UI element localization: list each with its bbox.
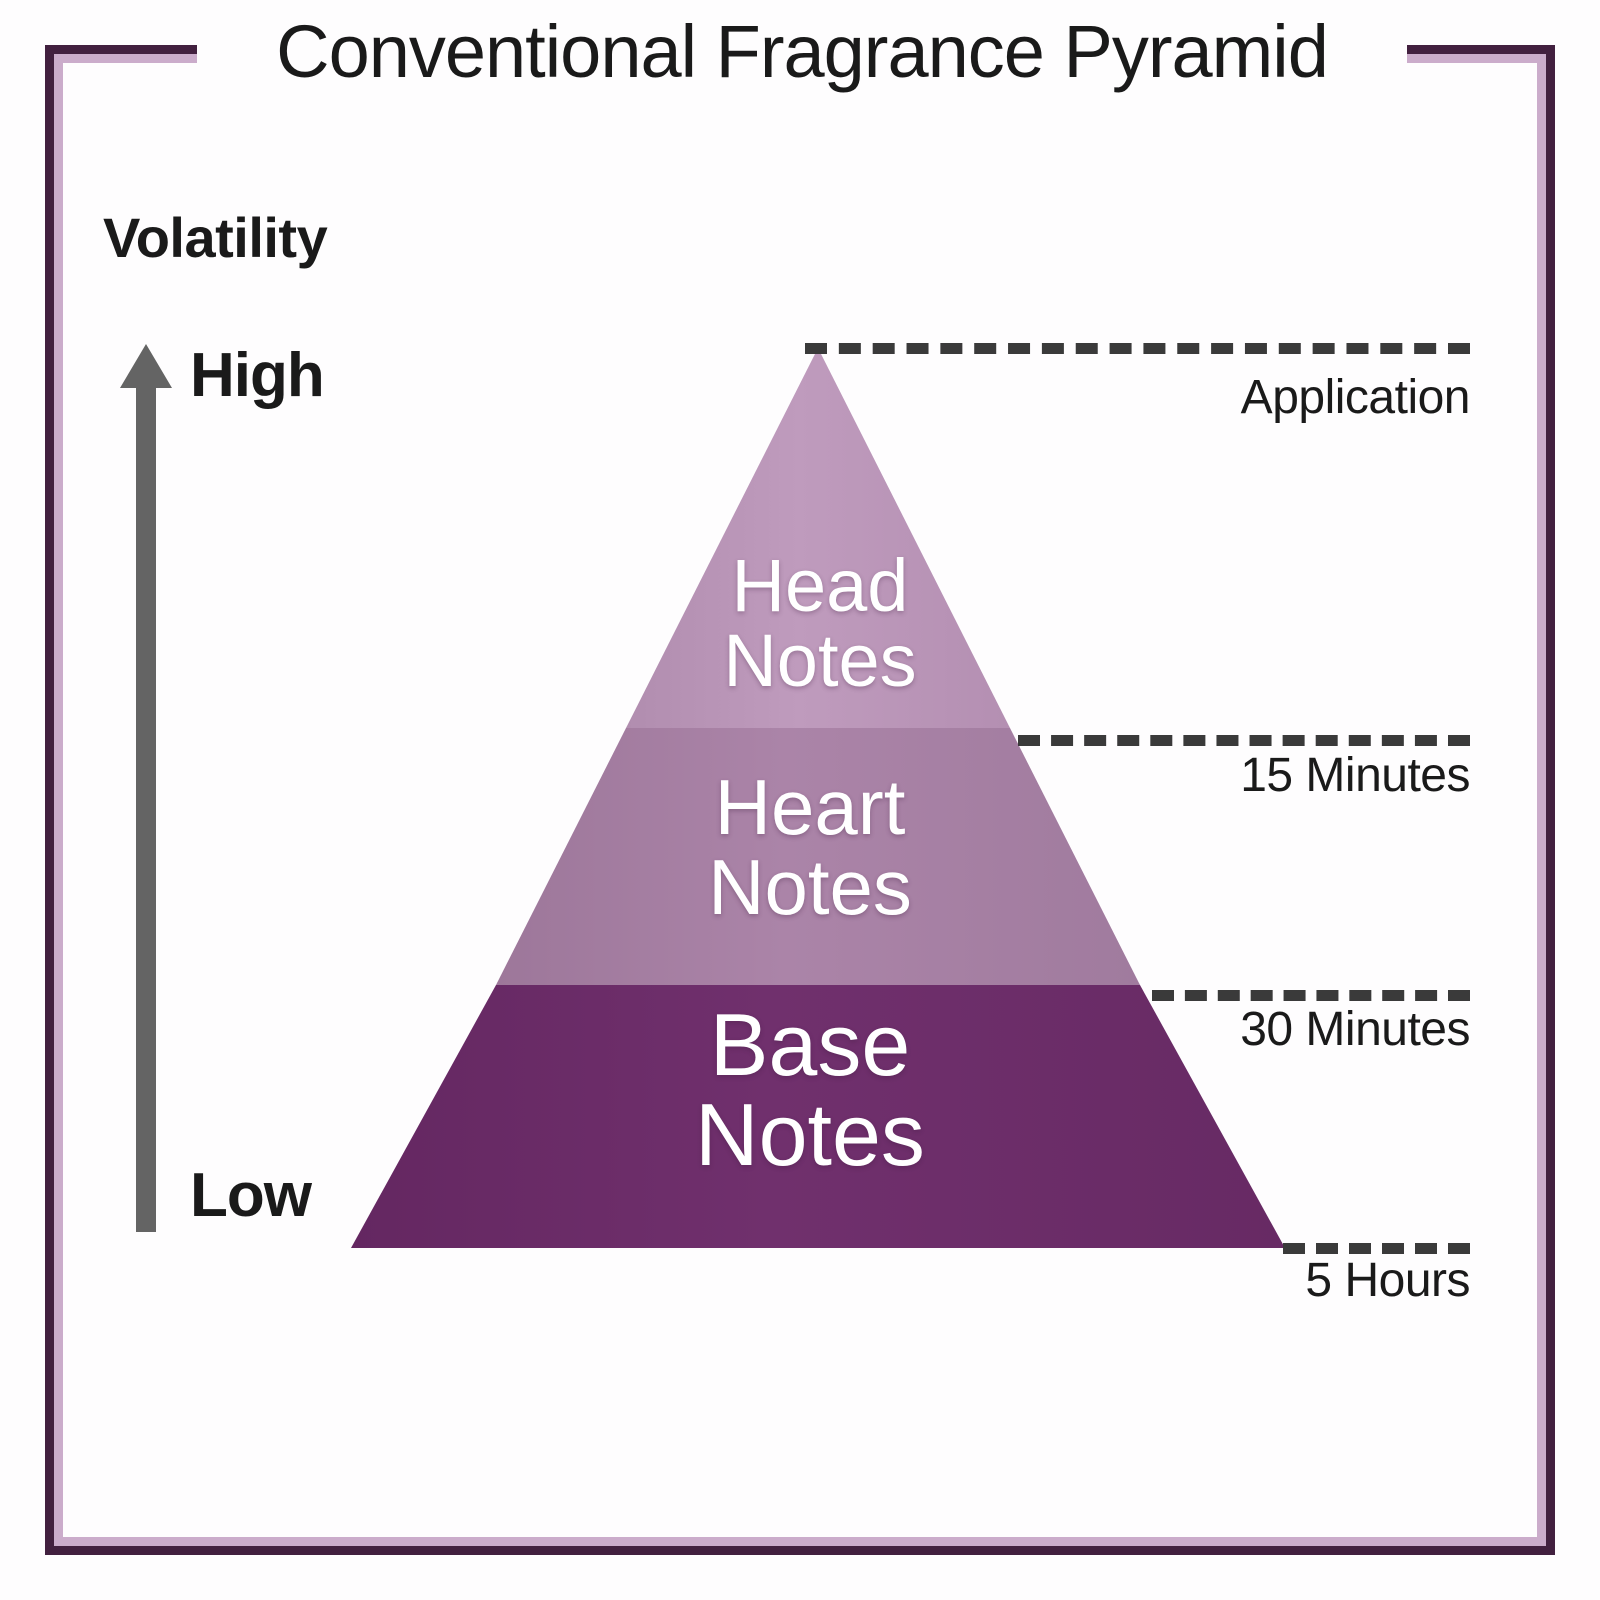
marker-label-five-hours: 5 Hours: [870, 1253, 1470, 1308]
marker-line-fifteen-min: [1018, 735, 1470, 746]
frame-left-inner: [54, 54, 63, 1546]
page-title: Conventional Fragrance Pyramid: [197, 10, 1407, 94]
frame-bottom-inner: [54, 1537, 1537, 1546]
fragrance-pyramid-diagram: Conventional Fragrance Pyramid Volatilit…: [0, 0, 1600, 1600]
frame-top-left-inner: [55, 54, 197, 63]
marker-line-thirty-min: [1152, 990, 1470, 1001]
axis-caption-volatility: Volatility: [103, 205, 327, 270]
marker-label-application: Application: [870, 370, 1470, 425]
frame-top-right-inner: [1407, 54, 1545, 63]
frame-right-segment: [1546, 45, 1555, 1555]
axis-label-high: High: [190, 340, 324, 411]
marker-label-thirty-min: 30 Minutes: [870, 1002, 1470, 1057]
volatility-up-arrow-icon: [118, 340, 174, 1236]
axis-label-low: Low: [190, 1160, 311, 1231]
frame-left-segment: [45, 45, 54, 1555]
marker-label-fifteen-min: 15 Minutes: [870, 748, 1470, 803]
frame-right-inner: [1537, 54, 1546, 1546]
marker-line-application: [805, 343, 1470, 354]
frame-top-left-segment: [45, 45, 197, 54]
frame-bottom-segment: [45, 1546, 1555, 1555]
frame-top-right-segment: [1407, 45, 1555, 54]
